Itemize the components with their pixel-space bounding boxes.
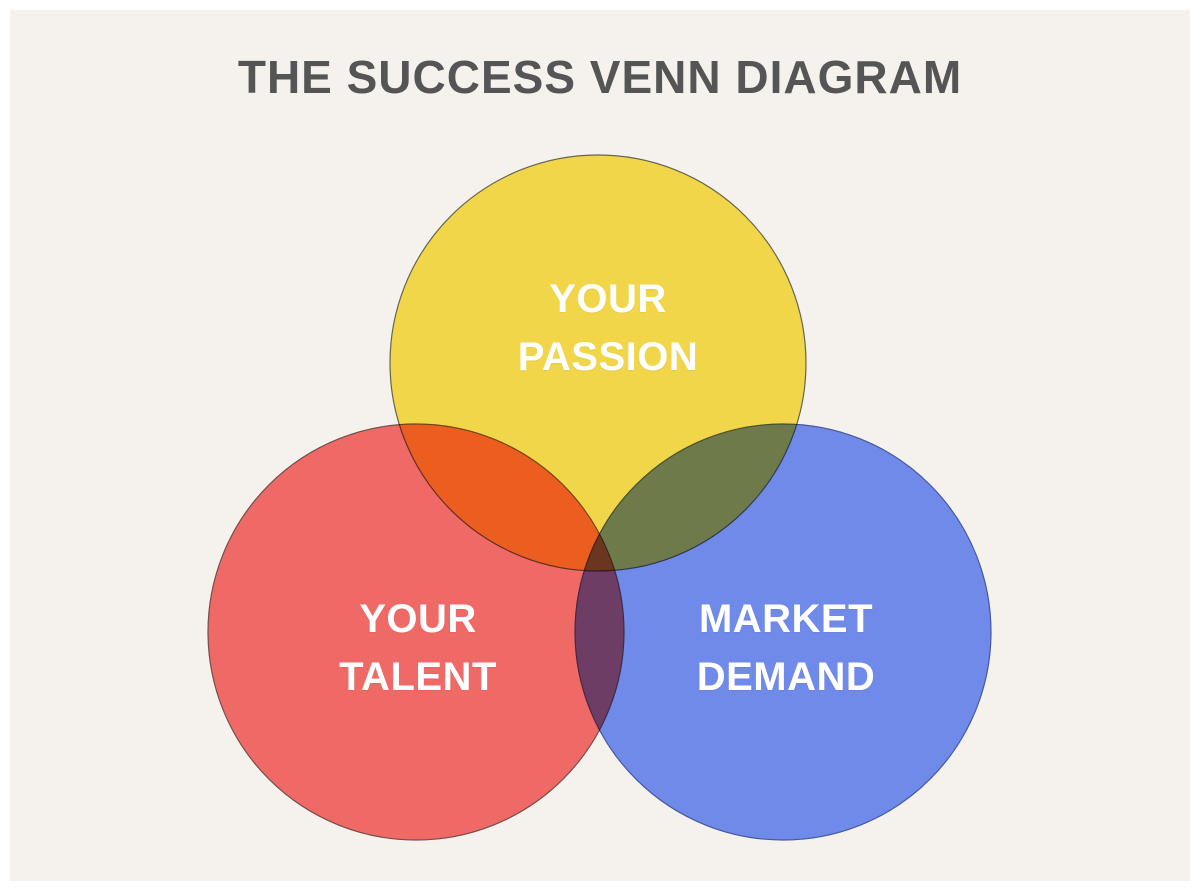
circle-market-demand[interactable] <box>575 424 991 840</box>
diagram-canvas: THE SUCCESS VENN DIAGRAM YOUR PASSION YO… <box>10 10 1190 881</box>
venn-diagram <box>10 10 1190 881</box>
circle-talent[interactable] <box>208 424 624 840</box>
